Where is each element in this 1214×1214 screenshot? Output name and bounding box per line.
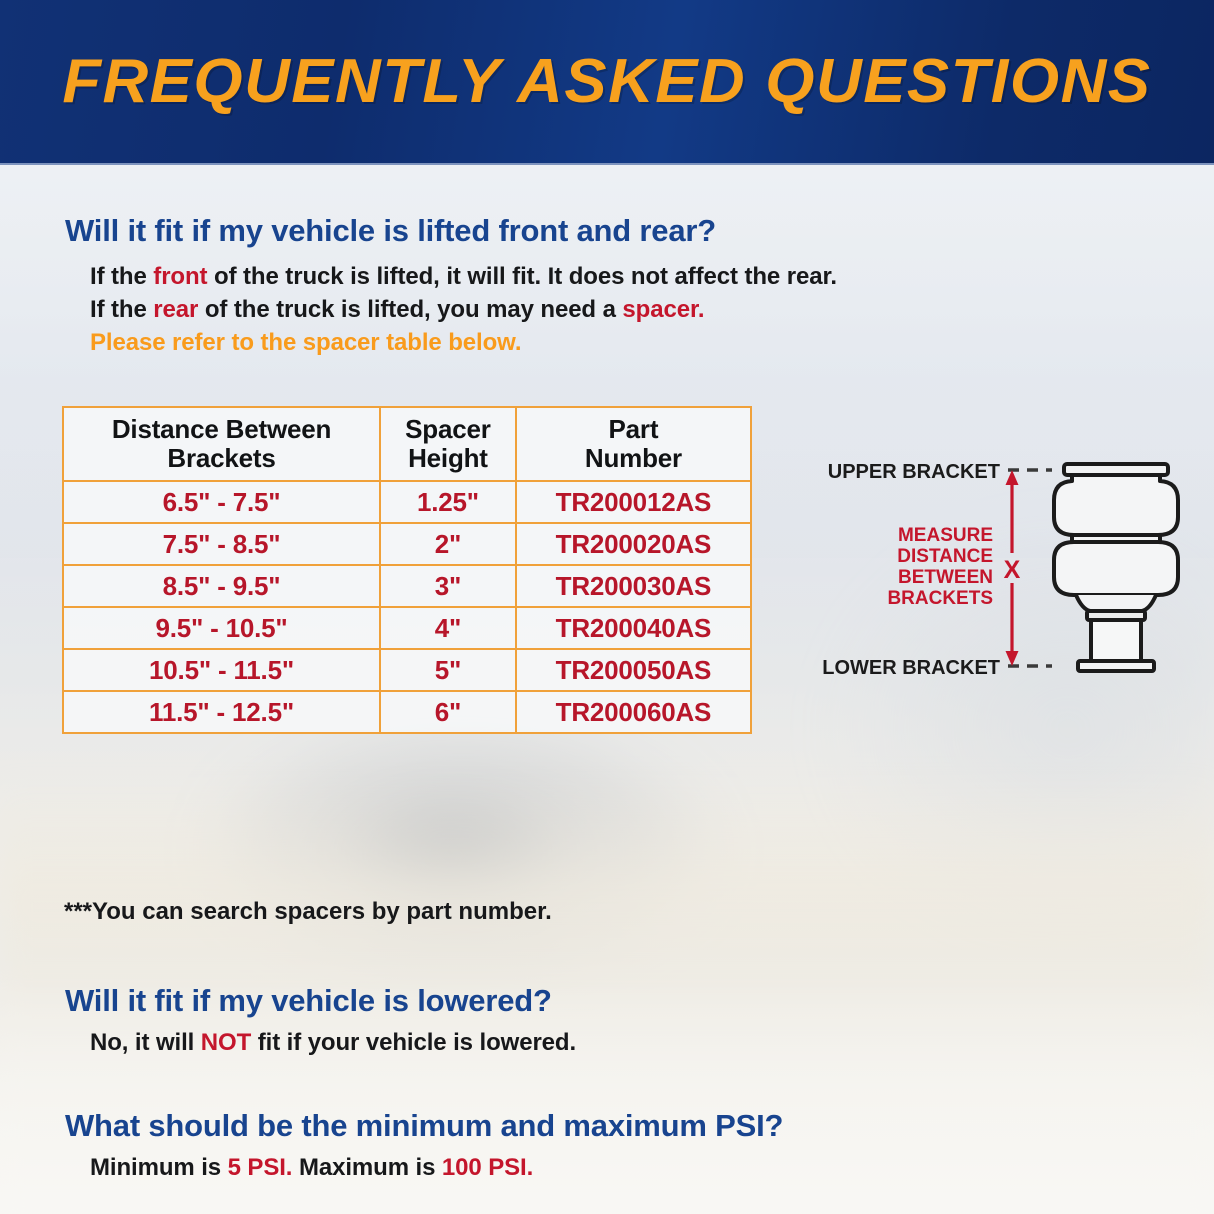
faq-item-lifted: Will it fit if my vehicle is lifted fron… [65, 213, 837, 362]
cell-distance: 10.5" - 11.5" [63, 649, 380, 691]
faq-question: What should be the minimum and maximum P… [65, 1108, 783, 1144]
cell-part-number: TR200040AS [516, 607, 751, 649]
table-footnote: ***You can search spacers by part number… [64, 898, 552, 926]
table-header-spacer-height: Spacer Height [380, 407, 516, 481]
text-run: If the [90, 296, 153, 323]
table-row: 8.5" - 9.5" 3" TR200030AS [63, 565, 751, 607]
faq-answer-line: Minimum is 5 PSI. Maximum is 100 PSI. [90, 1154, 783, 1182]
text-run: fit if your vehicle is lowered. [251, 1029, 576, 1056]
text-run: 100 PSI. [442, 1154, 533, 1181]
page-title: FREQUENTLY ASKED QUESTIONS [62, 46, 1151, 117]
text-run: of the truck is lifted, you may need a [198, 296, 622, 323]
cell-part-number: TR200060AS [516, 691, 751, 733]
table-header-row: Distance Between Brackets Spacer Height … [63, 407, 751, 481]
faq-answer-line: If the front of the truck is lifted, it … [90, 263, 837, 291]
cell-part-number: TR200050AS [516, 649, 751, 691]
cell-distance: 7.5" - 8.5" [63, 523, 380, 565]
measure-line-3: BETWEEN [898, 567, 993, 588]
cell-spacer-height: 1.25" [380, 481, 516, 523]
faq-infographic: FREQUENTLY ASKED QUESTIONS Will it fit i… [0, 0, 1214, 1214]
faq-item-lowered: Will it fit if my vehicle is lowered? No… [65, 983, 576, 1057]
faq-item-psi: What should be the minimum and maximum P… [65, 1108, 783, 1182]
text-run: Maximum is [292, 1154, 442, 1181]
cell-spacer-height: 4" [380, 607, 516, 649]
text-run: Please refer to the spacer table below. [90, 329, 521, 356]
faq-answer-line: If the rear of the truck is lifted, you … [90, 296, 837, 324]
text-run: Minimum is [90, 1154, 228, 1181]
faq-answer-line: Please refer to the spacer table below. [90, 329, 837, 357]
measure-line-1: MEASURE [898, 525, 993, 546]
table-row: 10.5" - 11.5" 5" TR200050AS [63, 649, 751, 691]
faq-question: Will it fit if my vehicle is lowered? [65, 983, 576, 1019]
cell-distance: 9.5" - 10.5" [63, 607, 380, 649]
page-header: FREQUENTLY ASKED QUESTIONS [0, 0, 1214, 163]
cell-spacer-height: 6" [380, 691, 516, 733]
table-row: 7.5" - 8.5" 2" TR200020AS [63, 523, 751, 565]
cell-part-number: TR200030AS [516, 565, 751, 607]
table-header-distance: Distance Between Brackets [63, 407, 380, 481]
text-run: If the [90, 263, 153, 290]
air-spring-body [1054, 464, 1178, 671]
bracket-measure-diagram: X MEASURE DISTANCE BETWEEN BRACKETS UPPE… [790, 453, 1190, 693]
arrow-head-down [1006, 651, 1019, 666]
measure-line-4: BRACKETS [887, 588, 993, 609]
table-row: 11.5" - 12.5" 6" TR200060AS [63, 691, 751, 733]
table-body: 6.5" - 7.5" 1.25" TR200012AS 7.5" - 8.5"… [63, 481, 751, 733]
cell-part-number: TR200012AS [516, 481, 751, 523]
cell-distance: 6.5" - 7.5" [63, 481, 380, 523]
text-run: 5 PSI. [228, 1154, 293, 1181]
table-row: 6.5" - 7.5" 1.25" TR200012AS [63, 481, 751, 523]
upper-bracket-label: UPPER BRACKET [828, 461, 1000, 483]
dimension-symbol-x: X [1004, 556, 1021, 584]
text-run: NOT [201, 1029, 251, 1056]
cell-spacer-height: 2" [380, 523, 516, 565]
faq-content: Will it fit if my vehicle is lifted fron… [0, 163, 1214, 1214]
faq-answer-line: No, it will NOT fit if your vehicle is l… [90, 1029, 576, 1057]
text-run: front [153, 263, 207, 290]
table-row: 9.5" - 10.5" 4" TR200040AS [63, 607, 751, 649]
cell-spacer-height: 5" [380, 649, 516, 691]
table-header-part-number: Part Number [516, 407, 751, 481]
cell-distance: 8.5" - 9.5" [63, 565, 380, 607]
spacer-table: Distance Between Brackets Spacer Height … [62, 406, 752, 734]
measure-line-2: DISTANCE [897, 546, 993, 567]
lower-bracket-label: LOWER BRACKET [822, 657, 1000, 679]
faq-question: Will it fit if my vehicle is lifted fron… [65, 213, 837, 249]
text-run: spacer. [622, 296, 704, 323]
cell-part-number: TR200020AS [516, 523, 751, 565]
arrow-head-up [1006, 470, 1019, 485]
text-run: No, it will [90, 1029, 201, 1056]
text-run: rear [153, 296, 198, 323]
cell-distance: 11.5" - 12.5" [63, 691, 380, 733]
cell-spacer-height: 3" [380, 565, 516, 607]
air-spring-illustration: X MEASURE DISTANCE BETWEEN BRACKETS UPPE… [790, 453, 1190, 693]
text-run: of the truck is lifted, it will fit. It … [207, 263, 836, 290]
